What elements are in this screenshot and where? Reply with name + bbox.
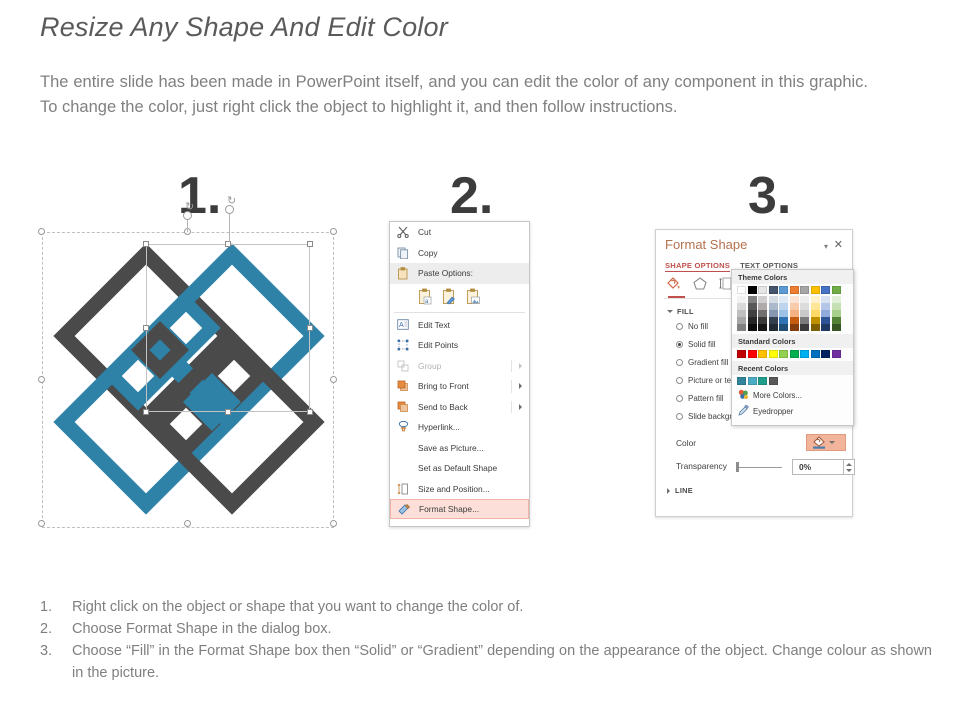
submenu-divider bbox=[511, 401, 512, 414]
group-icon bbox=[396, 359, 410, 373]
theme-color-swatch[interactable] bbox=[748, 324, 757, 331]
theme-color-swatch[interactable] bbox=[832, 317, 841, 324]
menu-label: Paste Options: bbox=[418, 268, 473, 278]
chevron-down-icon[interactable]: ▾ bbox=[824, 242, 828, 251]
menu-label: Set as Default Shape bbox=[418, 463, 497, 473]
instruction-item: 1. Right click on the object or shape th… bbox=[40, 596, 932, 618]
eyedropper-item[interactable]: Eyedropper bbox=[732, 404, 853, 420]
transparency-slider-track[interactable] bbox=[738, 467, 782, 468]
inner-handle-se[interactable] bbox=[307, 409, 313, 415]
theme-color-swatch[interactable] bbox=[832, 310, 841, 317]
theme-color-swatch[interactable] bbox=[758, 286, 767, 294]
menu-label: Format Shape... bbox=[419, 504, 479, 514]
theme-color-swatch[interactable] bbox=[811, 310, 820, 317]
standard-color-swatch[interactable] bbox=[748, 350, 757, 358]
eyedropper-icon bbox=[738, 405, 749, 418]
menu-label: Copy bbox=[418, 248, 438, 258]
paste-keep-source-icon[interactable]: a bbox=[418, 288, 433, 305]
recent-color-swatch[interactable] bbox=[769, 377, 778, 385]
recent-color-swatch[interactable] bbox=[737, 377, 746, 385]
paste-merge-icon[interactable] bbox=[442, 288, 457, 305]
theme-color-swatch[interactable] bbox=[811, 303, 820, 310]
rotate-stem-outer bbox=[187, 220, 188, 232]
theme-color-column[interactable] bbox=[821, 286, 830, 331]
menu-item-hyperlink[interactable]: Hyperlink... bbox=[390, 417, 529, 438]
theme-color-swatch[interactable] bbox=[800, 303, 809, 310]
instruction-number: 1. bbox=[40, 596, 72, 618]
theme-color-swatch[interactable] bbox=[769, 317, 778, 324]
menu-item-edit-points[interactable]: Edit Points bbox=[390, 335, 529, 356]
radio-label: Pattern fill bbox=[688, 394, 724, 403]
page-title: Resize Any Shape And Edit Color bbox=[40, 12, 448, 43]
inner-selection-box bbox=[146, 244, 310, 412]
standard-colors-heading: Standard Colors bbox=[732, 334, 853, 348]
standard-color-swatch[interactable] bbox=[769, 350, 778, 358]
selection-handle-w[interactable] bbox=[38, 376, 45, 383]
chevron-down-icon[interactable] bbox=[667, 310, 673, 313]
theme-color-swatch[interactable] bbox=[790, 286, 799, 294]
transparency-slider-handle[interactable] bbox=[736, 462, 739, 472]
theme-color-column[interactable] bbox=[811, 286, 820, 331]
color-picker-flyout[interactable]: Theme Colors Standard Colors Recent Colo… bbox=[731, 269, 854, 426]
theme-color-swatch[interactable] bbox=[769, 296, 778, 303]
theme-color-swatch[interactable] bbox=[737, 296, 746, 303]
chevron-right-icon[interactable] bbox=[519, 404, 522, 410]
theme-color-swatch[interactable] bbox=[769, 310, 778, 317]
radio-gradient-fill[interactable]: Gradient fill bbox=[676, 358, 728, 367]
radio-pattern-fill[interactable]: Pattern fill bbox=[676, 394, 724, 403]
standard-color-swatch[interactable] bbox=[779, 350, 788, 358]
theme-color-swatch[interactable] bbox=[790, 324, 799, 331]
pentagon-effects-icon[interactable] bbox=[693, 277, 707, 292]
theme-color-swatch[interactable] bbox=[779, 303, 788, 310]
theme-color-column[interactable] bbox=[790, 286, 799, 331]
copy-icon bbox=[396, 246, 410, 260]
standard-color-swatch[interactable] bbox=[800, 350, 809, 358]
submenu-divider bbox=[511, 360, 512, 373]
transparency-label: Transparency bbox=[676, 461, 727, 471]
theme-color-column[interactable] bbox=[758, 286, 767, 331]
standard-color-swatch[interactable] bbox=[811, 350, 820, 358]
menu-item-cut[interactable]: Cut bbox=[390, 222, 529, 243]
theme-color-swatch[interactable] bbox=[779, 310, 788, 317]
format-shape-title: Format Shape bbox=[665, 237, 747, 252]
theme-color-swatch[interactable] bbox=[800, 324, 809, 331]
theme-color-swatch[interactable] bbox=[758, 303, 767, 310]
close-icon[interactable]: ✕ bbox=[834, 238, 843, 251]
theme-color-swatch[interactable] bbox=[790, 317, 799, 324]
menu-label: Bring to Front bbox=[418, 381, 469, 391]
theme-color-column[interactable] bbox=[769, 286, 778, 331]
rotate-handle-icon-2[interactable]: ↻ bbox=[227, 196, 236, 207]
menu-item-paste-options[interactable]: Paste Options: bbox=[390, 263, 529, 284]
transparency-stepper[interactable] bbox=[844, 459, 855, 475]
rotate-handle-icon[interactable]: ↻ bbox=[185, 202, 194, 213]
theme-color-swatch[interactable] bbox=[758, 317, 767, 324]
submenu-divider bbox=[511, 380, 512, 393]
theme-color-swatch[interactable] bbox=[748, 296, 757, 303]
inner-handle-s[interactable] bbox=[225, 409, 231, 415]
theme-color-swatch[interactable] bbox=[800, 317, 809, 324]
menu-label: Group bbox=[418, 361, 441, 371]
selection-handle-sw[interactable] bbox=[38, 520, 45, 527]
inner-handle-ne[interactable] bbox=[307, 241, 313, 247]
theme-color-swatch[interactable] bbox=[737, 324, 746, 331]
theme-color-column[interactable] bbox=[737, 286, 746, 331]
radio-no-fill[interactable]: No fill bbox=[676, 322, 708, 331]
theme-color-swatch[interactable] bbox=[737, 310, 746, 317]
menu-label: Edit Text bbox=[418, 320, 450, 330]
selection-handle-se[interactable] bbox=[330, 520, 337, 527]
standard-colors-row[interactable] bbox=[732, 348, 853, 361]
theme-colors-heading: Theme Colors bbox=[732, 270, 853, 284]
theme-color-swatch[interactable] bbox=[790, 303, 799, 310]
standard-color-swatch[interactable] bbox=[821, 350, 830, 358]
recent-color-swatch[interactable] bbox=[748, 377, 757, 385]
radio-button[interactable] bbox=[676, 395, 683, 402]
edit-text-icon: A bbox=[396, 318, 410, 332]
theme-color-swatch[interactable] bbox=[748, 286, 757, 294]
instruction-number: 2. bbox=[40, 618, 72, 640]
theme-color-swatch[interactable] bbox=[821, 324, 830, 331]
theme-color-swatch[interactable] bbox=[779, 317, 788, 324]
eyedropper-label: Eyedropper bbox=[753, 407, 793, 416]
theme-color-swatch[interactable] bbox=[737, 303, 746, 310]
paste-options-row[interactable]: a bbox=[390, 284, 529, 310]
theme-color-swatch[interactable] bbox=[758, 324, 767, 331]
scissors-icon bbox=[396, 225, 410, 239]
selection-handle-ne[interactable] bbox=[330, 228, 337, 235]
fill-bucket-icon[interactable] bbox=[666, 276, 681, 292]
theme-color-swatch[interactable] bbox=[821, 303, 830, 310]
tab-shape-options[interactable]: SHAPE OPTIONS bbox=[665, 261, 730, 272]
menu-item-copy[interactable]: Copy bbox=[390, 243, 529, 264]
theme-color-swatch[interactable] bbox=[811, 296, 820, 303]
recent-colors-heading: Recent Colors bbox=[732, 361, 853, 375]
inner-handle-sw[interactable] bbox=[143, 409, 149, 415]
chevron-right-icon[interactable] bbox=[667, 488, 670, 494]
menu-item-edit-text[interactable]: A Edit Text bbox=[390, 315, 529, 336]
theme-color-swatch[interactable] bbox=[811, 324, 820, 331]
instruction-text: Choose “Fill” in the Format Shape box th… bbox=[72, 640, 932, 684]
theme-color-swatch[interactable] bbox=[779, 286, 788, 294]
theme-color-swatch[interactable] bbox=[821, 286, 830, 294]
more-colors-label: More Colors... bbox=[753, 391, 802, 400]
menu-item-save-as-picture[interactable]: Save as Picture... bbox=[390, 438, 529, 459]
svg-text:A: A bbox=[399, 322, 404, 329]
line-section-heading[interactable]: LINE bbox=[667, 486, 693, 495]
transparency-row[interactable]: Transparency 0% bbox=[676, 459, 851, 475]
inner-handle-nw[interactable] bbox=[143, 241, 149, 247]
more-colors-icon bbox=[738, 389, 749, 402]
theme-color-swatch[interactable] bbox=[748, 303, 757, 310]
selection-handle-nw[interactable] bbox=[38, 228, 45, 235]
radio-button[interactable] bbox=[676, 377, 683, 384]
fill-section-heading[interactable]: FILL bbox=[667, 306, 694, 316]
theme-color-swatch[interactable] bbox=[790, 296, 799, 303]
menu-label: Size and Position... bbox=[418, 484, 490, 494]
theme-colors-grid[interactable] bbox=[732, 284, 853, 334]
active-icon-underline bbox=[668, 296, 685, 298]
context-menu[interactable]: Cut Copy Paste Options: a bbox=[389, 221, 530, 527]
menu-label: Cut bbox=[418, 227, 431, 237]
menu-item-size-and-position[interactable]: Size and Position... bbox=[390, 479, 529, 500]
format-shape-icon-row[interactable] bbox=[666, 276, 732, 292]
color-row[interactable]: Color bbox=[676, 434, 846, 452]
menu-label: Save as Picture... bbox=[418, 443, 484, 453]
standard-color-swatch[interactable] bbox=[832, 350, 841, 358]
theme-color-column[interactable] bbox=[800, 286, 809, 331]
theme-color-swatch[interactable] bbox=[769, 286, 778, 294]
chevron-down-icon[interactable] bbox=[829, 441, 835, 444]
radio-label: No fill bbox=[688, 322, 708, 331]
edit-points-icon bbox=[396, 338, 410, 352]
hyperlink-icon bbox=[396, 420, 410, 434]
inner-handle-e[interactable] bbox=[307, 325, 313, 331]
inner-handle-n[interactable] bbox=[225, 241, 231, 247]
instruction-item: 3. Choose “Fill” in the Format Shape box… bbox=[40, 640, 932, 684]
chevron-right-icon bbox=[519, 363, 522, 369]
theme-color-swatch[interactable] bbox=[737, 286, 746, 294]
step-number-3: 3. bbox=[748, 170, 791, 222]
theme-color-swatch[interactable] bbox=[800, 310, 809, 317]
recent-colors-row[interactable] bbox=[732, 375, 853, 388]
theme-color-swatch[interactable] bbox=[758, 296, 767, 303]
theme-color-swatch[interactable] bbox=[821, 296, 830, 303]
theme-color-swatch[interactable] bbox=[779, 296, 788, 303]
instruction-item: 2. Choose Format Shape in the dialog box… bbox=[40, 618, 932, 640]
theme-color-swatch[interactable] bbox=[748, 310, 757, 317]
theme-color-column[interactable] bbox=[779, 286, 788, 331]
paste-icon bbox=[396, 266, 410, 280]
radio-button-selected[interactable] bbox=[676, 341, 683, 348]
menu-item-group[interactable]: Group bbox=[390, 356, 529, 377]
theme-color-swatch[interactable] bbox=[832, 324, 841, 331]
theme-color-swatch[interactable] bbox=[811, 317, 820, 324]
theme-color-swatch[interactable] bbox=[800, 286, 809, 294]
theme-color-swatch[interactable] bbox=[748, 317, 757, 324]
theme-color-swatch[interactable] bbox=[811, 286, 820, 294]
theme-color-swatch[interactable] bbox=[800, 296, 809, 303]
instruction-number: 3. bbox=[40, 640, 72, 684]
theme-color-swatch[interactable] bbox=[821, 317, 830, 324]
chevron-right-icon[interactable] bbox=[519, 383, 522, 389]
menu-item-bring-to-front[interactable]: Bring to Front bbox=[390, 376, 529, 397]
theme-color-column[interactable] bbox=[832, 286, 841, 331]
stepper-down-icon[interactable] bbox=[846, 469, 852, 472]
theme-color-swatch[interactable] bbox=[737, 317, 746, 324]
radio-button[interactable] bbox=[676, 323, 683, 330]
recent-color-swatch[interactable] bbox=[758, 377, 767, 385]
send-back-icon bbox=[396, 400, 410, 414]
standard-color-swatch[interactable] bbox=[758, 350, 767, 358]
theme-color-swatch[interactable] bbox=[832, 303, 841, 310]
menu-label: Send to Back bbox=[418, 402, 468, 412]
instruction-text: Choose Format Shape in the dialog box. bbox=[72, 618, 932, 640]
theme-color-swatch[interactable] bbox=[769, 324, 778, 331]
rotate-stem-inner bbox=[229, 214, 230, 242]
bring-front-icon bbox=[396, 379, 410, 393]
step-number-2: 2. bbox=[450, 170, 493, 222]
selection-handle-s[interactable] bbox=[184, 520, 191, 527]
stepper-up-icon[interactable] bbox=[846, 463, 852, 466]
radio-label: Gradient fill bbox=[688, 358, 728, 367]
theme-color-swatch[interactable] bbox=[832, 286, 841, 294]
theme-color-swatch[interactable] bbox=[769, 303, 778, 310]
standard-color-swatch[interactable] bbox=[790, 350, 799, 358]
intro-paragraph: The entire slide has been made in PowerP… bbox=[40, 70, 868, 120]
radio-label: Solid fill bbox=[688, 340, 716, 349]
fill-color-icon bbox=[811, 435, 827, 451]
selection-handle-e[interactable] bbox=[330, 376, 337, 383]
theme-color-swatch[interactable] bbox=[758, 310, 767, 317]
paste-picture-icon[interactable] bbox=[466, 288, 481, 305]
theme-color-swatch[interactable] bbox=[790, 310, 799, 317]
more-colors-item[interactable]: More Colors... bbox=[732, 388, 853, 404]
size-position-icon bbox=[396, 482, 410, 496]
instructions-list: 1. Right click on the object or shape th… bbox=[40, 596, 932, 684]
menu-label: Edit Points bbox=[418, 340, 458, 350]
radio-button[interactable] bbox=[676, 359, 683, 366]
format-shape-icon bbox=[397, 502, 411, 516]
theme-color-column[interactable] bbox=[748, 286, 757, 331]
theme-color-swatch[interactable] bbox=[821, 310, 830, 317]
menu-label: Hyperlink... bbox=[418, 422, 460, 432]
radio-solid-fill[interactable]: Solid fill bbox=[676, 340, 716, 349]
menu-separator bbox=[394, 312, 525, 313]
instruction-text: Right click on the object or shape that … bbox=[72, 596, 932, 618]
menu-item-set-as-default-shape[interactable]: Set as Default Shape bbox=[390, 458, 529, 479]
transparency-value-input[interactable]: 0% bbox=[792, 459, 844, 475]
theme-color-swatch[interactable] bbox=[832, 296, 841, 303]
menu-item-format-shape[interactable]: Format Shape... bbox=[390, 499, 529, 519]
theme-color-swatch[interactable] bbox=[779, 324, 788, 331]
inner-handle-w[interactable] bbox=[143, 325, 149, 331]
color-swatch-button[interactable] bbox=[806, 434, 846, 451]
menu-item-send-to-back[interactable]: Send to Back bbox=[390, 397, 529, 418]
shape-graphic-panel[interactable]: ↻ ↻ bbox=[42, 232, 334, 528]
standard-color-swatch[interactable] bbox=[737, 350, 746, 358]
color-label: Color bbox=[676, 438, 696, 448]
radio-button[interactable] bbox=[676, 413, 683, 420]
